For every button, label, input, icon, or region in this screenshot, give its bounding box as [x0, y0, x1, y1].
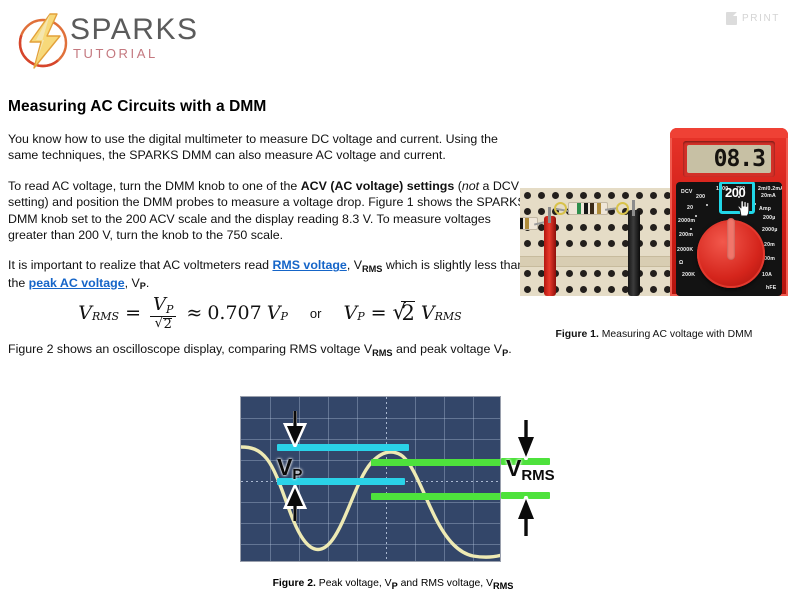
hand-pointer-icon — [737, 200, 750, 217]
breadboard-hole — [524, 240, 531, 247]
paragraph-rms: It is important to realize that AC voltm… — [8, 257, 528, 292]
formula-lhs-v: V — [78, 302, 92, 324]
breadboard-hole — [608, 192, 615, 199]
logo-wordmark: SPARKS TUTORIAL — [70, 14, 199, 62]
breadboard-hole — [580, 192, 587, 199]
breadboard-hole — [580, 240, 587, 247]
formula-lhs-sub: RMS — [92, 310, 119, 323]
lightning-bolt-icon — [14, 10, 76, 72]
breadboard-hole — [538, 192, 545, 199]
formula-coefficient: 0.707 — [207, 302, 261, 324]
rms-formula: VRMS = VP 2 ≈ 0.707 VP or VP = 2 VRMS — [60, 290, 480, 336]
label-vp: VP — [277, 455, 302, 483]
breadboard-hole — [552, 192, 559, 199]
breadboard-hole — [594, 270, 601, 277]
logo-title: SPARKS — [70, 14, 199, 46]
breadboard-hole — [594, 192, 601, 199]
article-body: Measuring AC Circuits with a DMM You kno… — [8, 97, 528, 306]
breadboard-hole — [622, 192, 629, 199]
oscilloscope-screen: VP — [240, 396, 501, 562]
article-body-2: Figure 2 shows an oscilloscope display, … — [8, 341, 528, 372]
breadboard-hole — [650, 224, 657, 231]
rms-marker-upper-inner — [371, 459, 501, 466]
breadboard-hole — [594, 286, 601, 293]
p2-text-a: To read AC voltage, turn the DMM knob to… — [8, 179, 301, 193]
breadboard-hole — [566, 240, 573, 247]
formula-fraction: VP 2 — [150, 296, 176, 332]
breadboard-hole — [524, 192, 531, 199]
p3-text-b: , V — [347, 258, 362, 272]
formula-rhs-root: 2 — [402, 301, 415, 325]
lcd-reading: 08.3 — [714, 148, 765, 171]
breadboard-hole — [608, 224, 615, 231]
p4-sub-rms: RMS — [372, 348, 392, 358]
terminal-ring-1 — [554, 202, 567, 215]
label-vrms-sub: RMS — [521, 467, 554, 484]
figure-1-image: 08.3 DCV 1000 200 20 2000m 200m 2000K Ω … — [520, 128, 788, 296]
formula-rhs-sub2: RMS — [435, 310, 462, 323]
black-probe — [628, 210, 640, 296]
breadboard-hole — [580, 224, 587, 231]
breadboard-hole — [566, 286, 573, 293]
print-label: PRINT — [742, 13, 780, 24]
figure-2-image: VP VRMS — [240, 396, 550, 563]
breadboard-hole — [580, 286, 587, 293]
formula-rhs-v2: V — [421, 302, 435, 324]
breadboard-hole — [594, 240, 601, 247]
p3-text-e: . — [146, 276, 149, 290]
figure-2-caption-a: Peak voltage, V — [316, 578, 392, 589]
digital-multimeter: 08.3 DCV 1000 200 20 2000m 200m 2000K Ω … — [670, 128, 788, 296]
label-vp-sub: P — [292, 466, 302, 483]
figure-2-caption: Figure 2. Peak voltage, VP and RMS volta… — [158, 578, 628, 589]
link-peak-ac-voltage[interactable]: peak AC voltage — [29, 276, 125, 290]
p3-text-d: , V — [125, 276, 140, 290]
formula-rhs-equals: = — [371, 302, 387, 324]
breadboard-hole — [608, 270, 615, 277]
figure-2-caption-b: and RMS voltage, V — [398, 578, 493, 589]
red-probe — [544, 216, 556, 296]
breadboard-hole — [650, 208, 657, 215]
vp-arrow-down — [282, 409, 308, 447]
breadboard-hole — [650, 286, 657, 293]
p4-sub-p: P — [502, 348, 508, 358]
p3-sub-rms: RMS — [362, 264, 382, 274]
breadboard-hole — [580, 270, 587, 277]
breadboard-hole — [608, 240, 615, 247]
breadboard-hole — [538, 208, 545, 215]
breadboard-hole — [524, 270, 531, 277]
formula-den: 2 — [152, 318, 175, 332]
figure-1-caption-text: Measuring AC voltage with DMM — [599, 329, 753, 340]
page-header: SPARKS TUTORIAL PRINT — [0, 0, 788, 82]
formula-or: or — [310, 306, 322, 321]
breadboard-hole — [650, 240, 657, 247]
formula-coef-v: V — [267, 302, 281, 324]
p2-italic: not — [462, 179, 479, 193]
vrms-arrow-down — [513, 418, 539, 460]
formula-den-root: 2 — [164, 317, 172, 332]
formula-num-v: V — [153, 294, 166, 315]
p4-text-a: Figure 2 shows an oscilloscope display, … — [8, 342, 372, 356]
sparks-logo[interactable]: SPARKS TUTORIAL — [8, 6, 268, 76]
lcd-display: 08.3 — [687, 145, 771, 173]
breadboard-hole — [650, 270, 657, 277]
breadboard-hole — [636, 192, 643, 199]
paragraph-intro: You know how to use the digital multimet… — [8, 131, 528, 164]
link-rms-voltage[interactable]: RMS voltage — [272, 258, 346, 272]
rms-marker-lower-inner — [371, 493, 501, 500]
paragraph-fig2-intro: Figure 2 shows an oscilloscope display, … — [8, 341, 528, 358]
tutorial-page: SPARKS TUTORIAL PRINT Measuring AC Circu… — [0, 0, 788, 600]
figure-2-caption-label: Figure 2. — [273, 578, 316, 589]
breadboard-hole — [608, 286, 615, 293]
p2-bold: ACV (AC voltage) settings — [301, 179, 455, 193]
breadboard-hole — [594, 224, 601, 231]
black-probe-tip — [632, 200, 635, 216]
breadboard — [520, 188, 670, 296]
vp-arrow-up — [282, 485, 308, 523]
figure-2-caption-sub1: P — [392, 581, 398, 591]
breadboard-hole — [650, 192, 657, 199]
knob-pointer — [727, 218, 735, 260]
lcd-bezel: 08.3 — [683, 141, 775, 177]
p3-text-a: It is important to realize that AC voltm… — [8, 258, 272, 272]
vrms-arrow-up — [513, 496, 539, 538]
red-probe-tip — [548, 207, 551, 223]
formula-coef-sub: P — [280, 310, 287, 323]
breadboard-hole — [524, 286, 531, 293]
figure-1-caption: Figure 1. Measuring AC voltage with DMM — [520, 328, 788, 341]
resistor-right — [568, 202, 608, 215]
label-vp-v: V — [277, 454, 292, 480]
breadboard-hole — [566, 192, 573, 199]
page-title: Measuring AC Circuits with a DMM — [8, 97, 528, 116]
formula-equals: = — [125, 302, 141, 324]
formula-approx: ≈ — [186, 302, 202, 324]
figure-1-caption-label: Figure 1. — [556, 329, 599, 340]
breadboard-channel — [520, 256, 670, 267]
formula-num-sub: P — [166, 303, 173, 316]
p4-text-c: . — [508, 342, 511, 356]
formula-rhs-v: V — [343, 302, 357, 324]
dial-panel: DCV 1000 200 20 2000m 200m 2000K Ω 200K … — [676, 182, 782, 296]
breadboard-hole — [566, 270, 573, 277]
sqrt-icon: 2 — [155, 318, 172, 332]
paragraph-acv: To read AC voltage, turn the DMM knob to… — [8, 178, 528, 244]
print-link[interactable]: PRINT — [726, 12, 780, 25]
formula-num: VP — [150, 296, 176, 315]
sqrt2-icon: 2 — [393, 301, 415, 325]
page-icon — [726, 12, 737, 25]
p4-text-b: and peak voltage V — [393, 342, 503, 356]
logo-subtitle: TUTORIAL — [73, 46, 199, 62]
formula-rhs-sub: P — [357, 310, 364, 323]
p2-text-b: ( — [454, 179, 462, 193]
figure-2-caption-sub2: RMS — [493, 581, 513, 591]
label-vrms: VRMS — [506, 456, 555, 484]
breadboard-hole — [566, 224, 573, 231]
rotary-knob[interactable] — [697, 220, 765, 288]
dmm-top-edge — [670, 128, 788, 138]
breadboard-hole — [524, 208, 531, 215]
